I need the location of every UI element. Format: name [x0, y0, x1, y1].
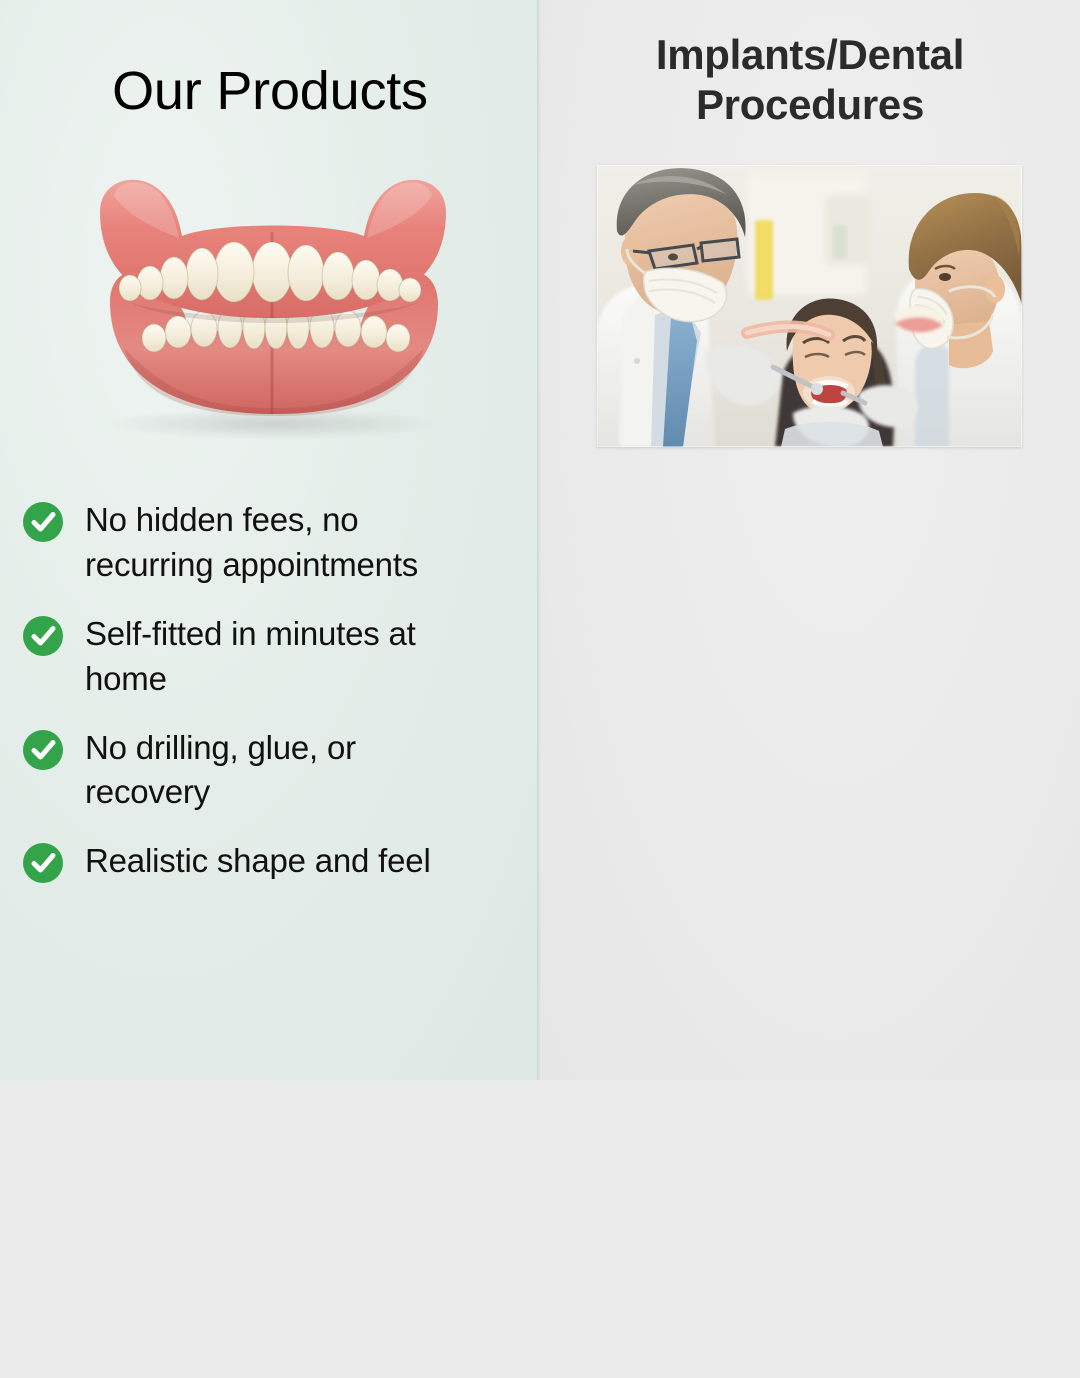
- denture-illustration: [58, 152, 488, 452]
- list-item: Realistic shape and feel: [22, 839, 500, 884]
- list-item: Self-fitted in minutes at home: [22, 612, 500, 702]
- dental-procedure-photo: [597, 165, 1022, 447]
- left-column-our-products: Our Products: [0, 0, 540, 1080]
- check-circle-icon: [22, 729, 64, 771]
- left-benefits-list: No hidden fees, no recurring appointment…: [0, 498, 540, 884]
- left-column-title: Our Products: [0, 62, 540, 120]
- right-column-title: Implants/Dental Procedures: [540, 30, 1080, 129]
- right-column-implants: Implants/Dental Procedures $3,000–$25,00…: [540, 0, 1080, 1080]
- check-circle-icon: [22, 615, 64, 657]
- right-column-title-line2: Procedures: [540, 80, 1080, 130]
- list-item: No hidden fees, no recurring appointment…: [22, 498, 500, 588]
- check-circle-icon: [22, 842, 64, 884]
- right-column-title-line1: Implants/Dental: [540, 30, 1080, 80]
- check-circle-icon: [22, 501, 64, 543]
- benefit-text: No hidden fees, no recurring appointment…: [85, 498, 483, 588]
- right-drawbacks-list: $3,000–$25,000+, upfront and ongoing Mul…: [540, 498, 1080, 1378]
- benefit-text: No drilling, glue, or recovery: [85, 726, 483, 816]
- list-item: No drilling, glue, or recovery: [22, 726, 500, 816]
- benefit-text: Realistic shape and feel: [85, 839, 431, 884]
- benefit-text: Self-fitted in minutes at home: [85, 612, 483, 702]
- column-divider: [537, 0, 540, 1080]
- comparison-infographic: Our Products: [0, 0, 1080, 1080]
